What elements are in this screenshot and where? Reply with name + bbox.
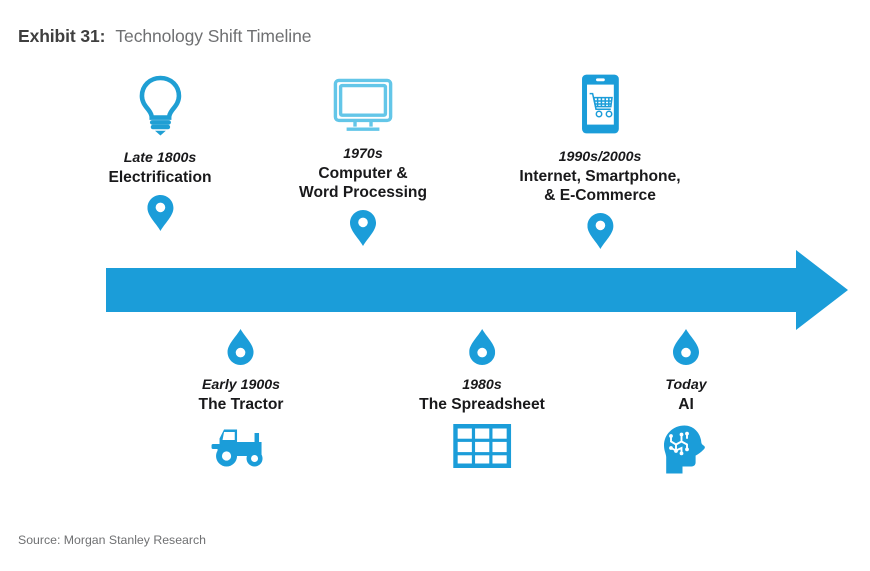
exhibit-number: Exhibit 31: — [18, 26, 105, 47]
milestone-name-line1: Internet, Smartphone, — [519, 167, 680, 186]
milestone-ai[interactable]: Today AI — [660, 329, 712, 476]
milestone-era: Early 1900s — [202, 377, 280, 394]
exhibit-header: Exhibit 31: Technology Shift Timeline — [18, 26, 311, 47]
milestone-era: Today — [665, 377, 706, 394]
milestone-era: 1990s/2000s — [559, 149, 642, 166]
exhibit-canvas: Exhibit 31: Technology Shift Timeline La… — [0, 0, 870, 571]
map-pin-icon — [147, 195, 173, 231]
milestone-computer-word-processing[interactable]: 1970s Computer & Word Processing — [299, 78, 427, 246]
milestone-name: AI — [678, 395, 694, 414]
milestone-era: Late 1800s — [124, 150, 197, 167]
source-note: Source: Morgan Stanley Research — [18, 533, 206, 547]
milestone-tractor[interactable]: Early 1900s The Tractor — [199, 329, 284, 468]
monitor-icon — [333, 78, 393, 132]
milestone-era: 1980s — [462, 377, 501, 394]
milestone-name: Electrification — [108, 168, 211, 187]
lightbulb-icon — [137, 74, 183, 136]
map-pin-icon — [350, 210, 376, 246]
milestone-era: 1970s — [343, 146, 382, 163]
milestone-name: The Spreadsheet — [419, 395, 545, 414]
ai-head-icon — [660, 424, 712, 476]
tractor-icon — [210, 424, 272, 468]
smartphone-cart-icon — [580, 73, 620, 135]
milestone-spreadsheet[interactable]: 1980s The Spreadsheet — [419, 329, 545, 468]
droplet-pin-icon — [673, 329, 699, 365]
timeline-arrow — [106, 248, 848, 332]
milestone-electrification[interactable]: Late 1800s Electrification — [108, 74, 211, 231]
droplet-pin-icon — [228, 329, 254, 365]
milestone-internet-smartphone-ecommerce[interactable]: 1990s/2000s Internet, Smartphone, & E-Co… — [519, 73, 680, 249]
milestone-name: The Tractor — [199, 395, 284, 414]
milestone-name-line2: Word Processing — [299, 183, 427, 202]
spreadsheet-icon — [453, 424, 511, 468]
milestone-name-line2: & E-Commerce — [544, 186, 656, 205]
page-title: Technology Shift Timeline — [115, 26, 311, 47]
map-pin-icon — [587, 213, 613, 249]
droplet-pin-icon — [469, 329, 495, 365]
milestone-name-line1: Computer & — [318, 164, 407, 183]
